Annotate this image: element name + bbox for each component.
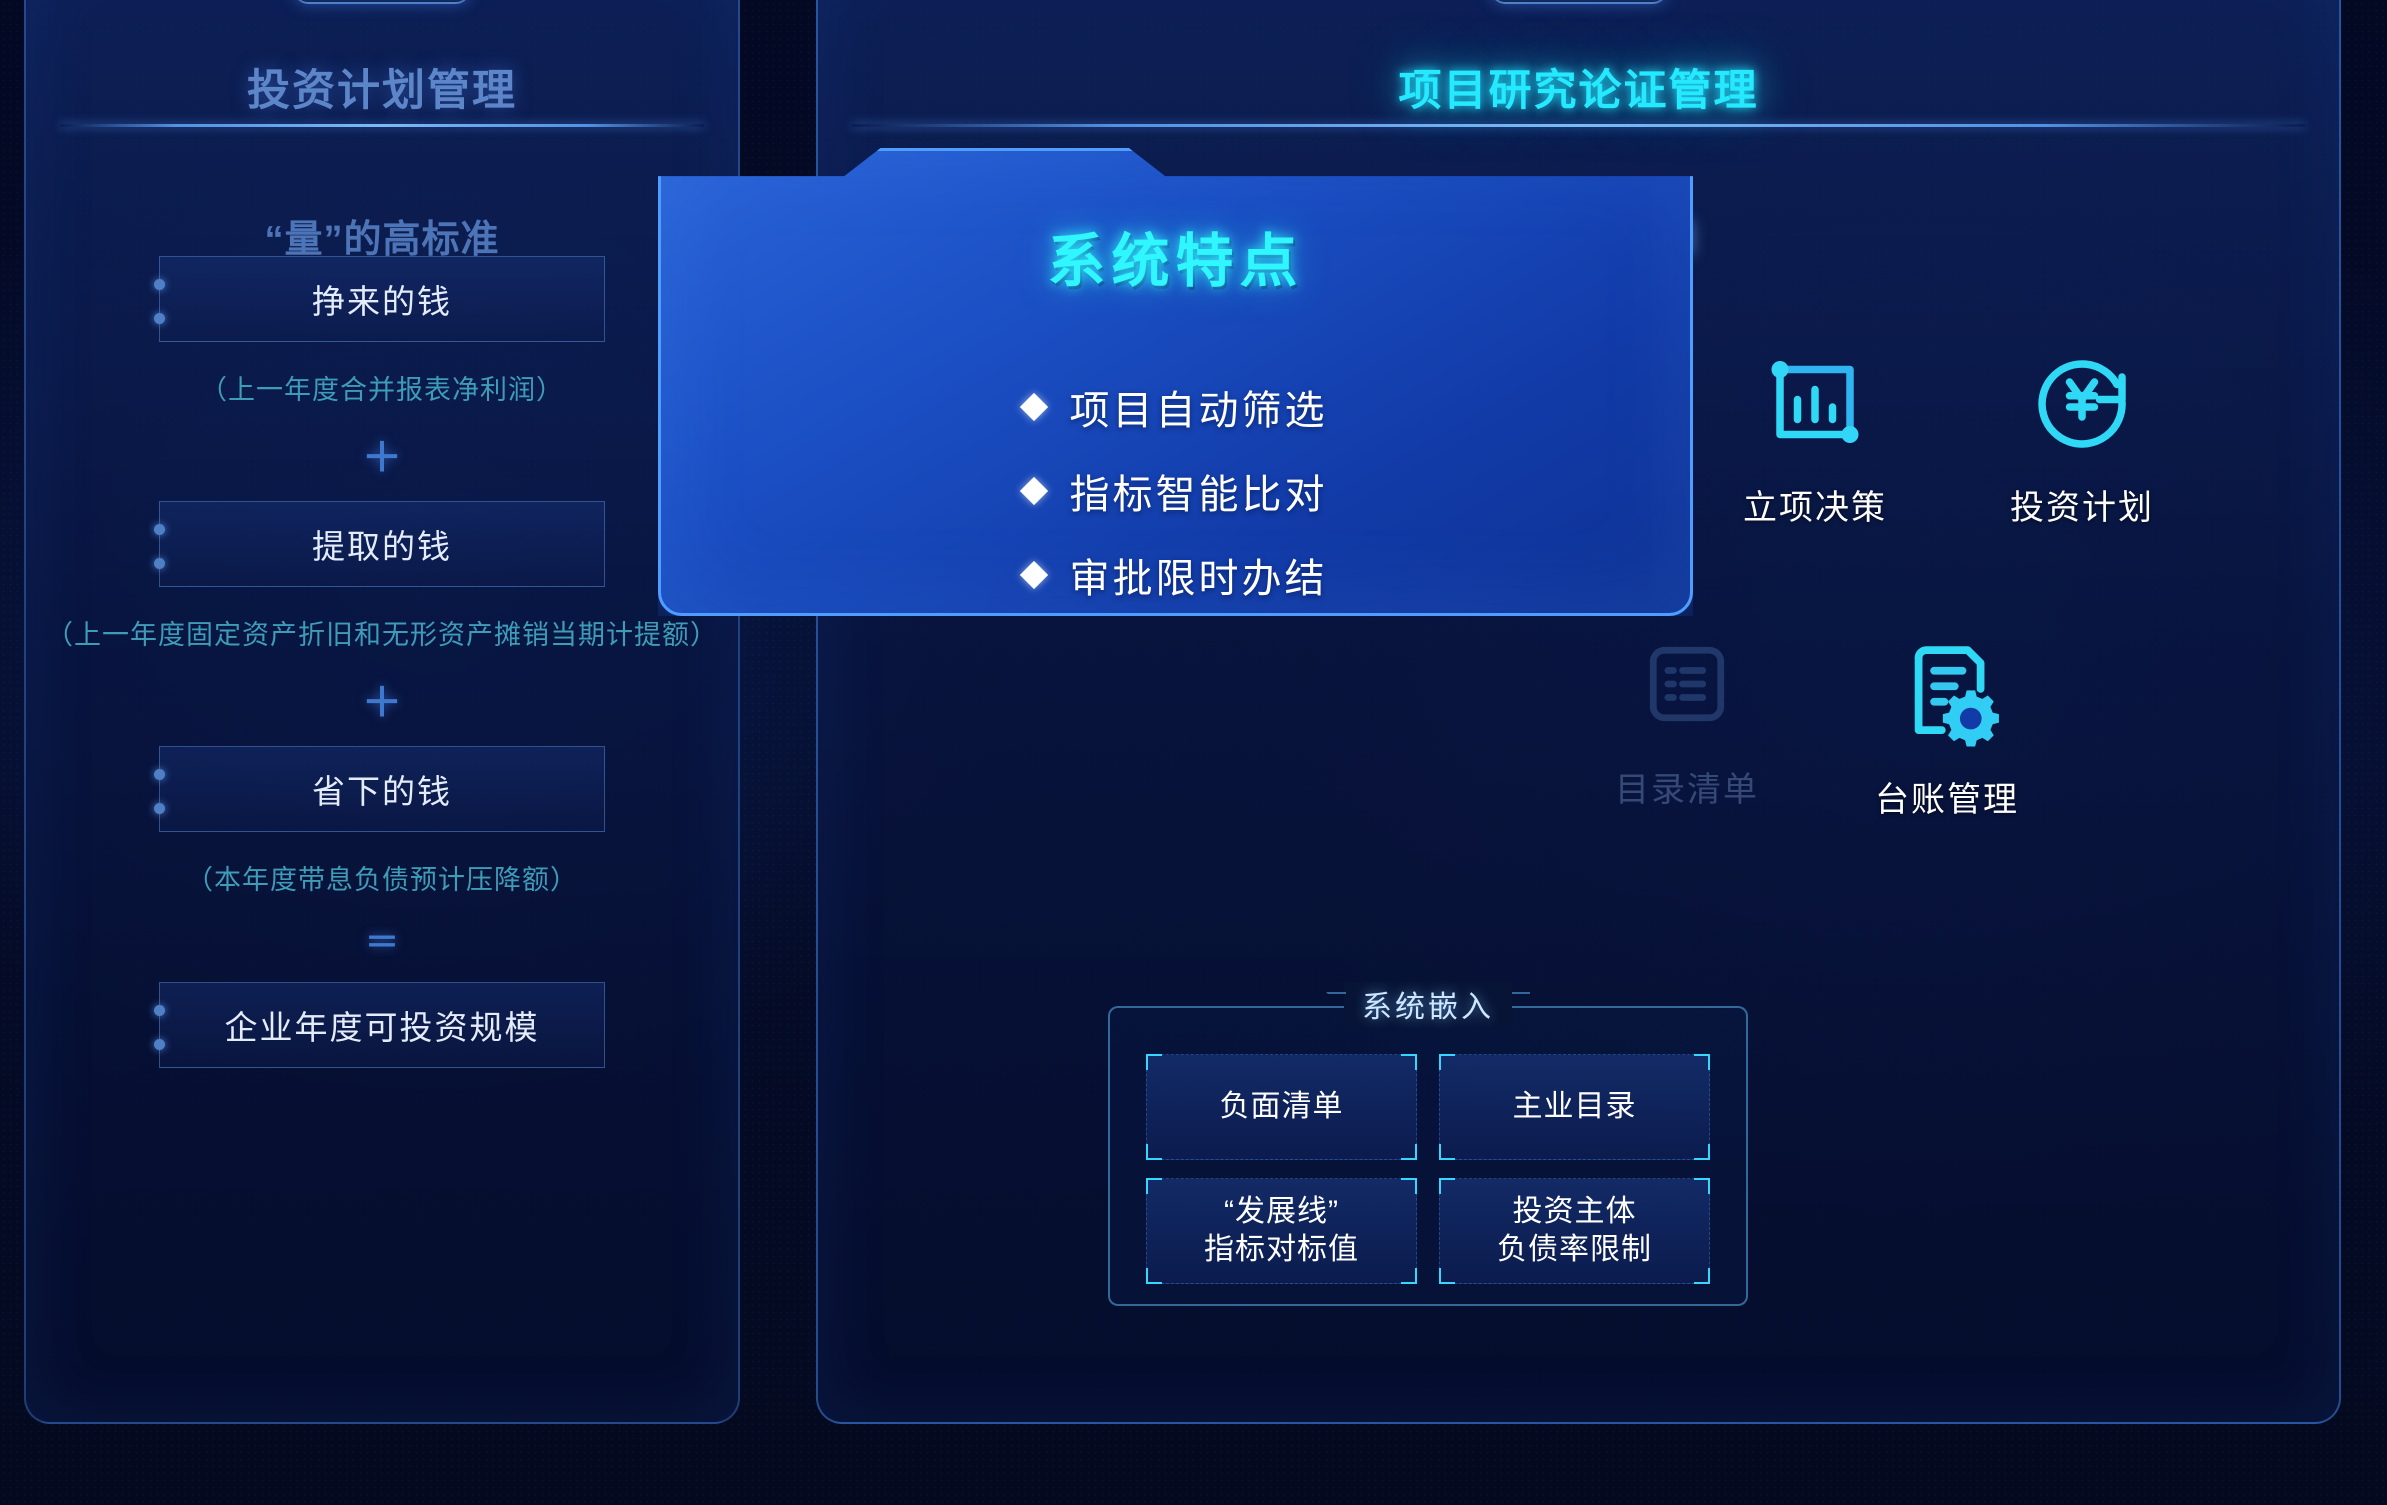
system-features-card[interactable]: 系统特点 项目自动筛选指标智能比对审批限时办结	[658, 148, 1693, 616]
corner-bracket-tl	[1439, 1178, 1455, 1194]
connector-dot	[154, 279, 165, 290]
system-embed-cell-label: 负面清单	[1220, 1088, 1344, 1126]
connector-dot	[154, 803, 165, 814]
right-panel-divider	[852, 124, 2305, 127]
icon-label: 目录清单	[1572, 762, 1802, 811]
feature-bullet-list: 项目自动筛选指标智能比对审批限时办结	[1024, 378, 1328, 630]
corner-bracket-tl	[1439, 1054, 1455, 1070]
formula-box: 提取的钱	[159, 501, 605, 587]
corner-bracket-br	[1694, 1268, 1710, 1284]
diamond-bullet-icon	[1019, 477, 1047, 505]
system-embed-group: 系统嵌入 负面清单主业目录“发展线”指标对标值投资主体负债率限制	[1108, 1006, 1748, 1306]
feature-bullet-item: 指标智能比对	[1024, 462, 1328, 520]
corner-bracket-tl	[1146, 1178, 1162, 1194]
feature-bullet-item: 审批限时办结	[1024, 546, 1328, 604]
corner-bracket-bl	[1146, 1268, 1162, 1284]
formula-operator: ＋	[26, 425, 738, 483]
icon-label: 投资计划	[1967, 480, 2197, 529]
connector-dot	[154, 1039, 165, 1050]
yen-refresh-icon	[1967, 338, 2197, 466]
diamond-bullet-icon	[1019, 393, 1047, 421]
feature-bullet-label: 指标智能比对	[1070, 462, 1328, 520]
formula-note: （本年度带息负债预计压降额）	[26, 858, 738, 897]
system-embed-cell-label: “发展线”指标对标值	[1204, 1193, 1359, 1270]
corner-bracket-br	[1401, 1144, 1417, 1160]
connector-dot	[154, 769, 165, 780]
left-panel-divider	[60, 124, 704, 127]
feature-card-title: 系统特点	[1047, 214, 1303, 298]
system-embed-cell[interactable]: 主业目录	[1439, 1054, 1710, 1160]
investment-formula-flow: 挣来的钱（上一年度合并报表净利润）＋提取的钱（上一年度固定资产折旧和无形资产摊销…	[26, 256, 738, 1068]
corner-bracket-br	[1401, 1268, 1417, 1284]
formula-box-label: 提取的钱	[312, 520, 452, 568]
icon-cell-catalog-list[interactable]: 目录清单	[1572, 620, 1802, 811]
icon-label: 台账管理	[1832, 772, 2062, 821]
formula-operator: ＋	[26, 670, 738, 728]
system-embed-cell[interactable]: “发展线”指标对标值	[1146, 1178, 1417, 1284]
feature-bullet-label: 审批限时办结	[1070, 546, 1328, 604]
corner-bracket-tr	[1401, 1178, 1417, 1194]
infographic-canvas: 投资计划管理 “量”的高标准 挣来的钱（上一年度合并报表净利润）＋提取的钱（上一…	[0, 0, 2387, 1505]
formula-box-label: 挣来的钱	[312, 275, 452, 323]
formula-note: （上一年度固定资产折旧和无形资产摊销当期计提额）	[26, 613, 738, 652]
connector-dot	[154, 1005, 165, 1016]
corner-bracket-bl	[1146, 1144, 1162, 1160]
formula-box: 挣来的钱	[159, 256, 605, 342]
system-embed-grid: 负面清单主业目录“发展线”指标对标值投资主体负债率限制	[1146, 1054, 1710, 1284]
system-embed-cell-label: 投资主体负债率限制	[1497, 1193, 1652, 1270]
icon-cell-investment-plan[interactable]: 投资计划	[1967, 338, 2197, 529]
formula-box: 企业年度可投资规模	[159, 982, 605, 1068]
list-checklist-icon	[1572, 620, 1802, 748]
diamond-bullet-icon	[1019, 561, 1047, 589]
panel-tab-notch	[1491, 0, 1667, 4]
corner-bracket-bl	[1439, 1268, 1455, 1284]
corner-bracket-bl	[1439, 1144, 1455, 1160]
formula-operator: ＝	[26, 915, 738, 964]
formula-note: （上一年度合并报表净利润）	[26, 368, 738, 407]
system-embed-cell-label: 主业目录	[1513, 1088, 1637, 1126]
document-gear-icon	[1832, 630, 2062, 758]
corner-bracket-tr	[1694, 1178, 1710, 1194]
system-embed-legend: 系统嵌入	[1344, 982, 1512, 1026]
icon-cell-ledger-management[interactable]: 台账管理	[1832, 630, 2062, 821]
right-panel-title: 项目研究论证管理	[818, 56, 2339, 118]
connector-dot	[154, 558, 165, 569]
corner-bracket-tl	[1146, 1054, 1162, 1070]
corner-bracket-tr	[1694, 1054, 1710, 1070]
system-embed-cell[interactable]: 投资主体负债率限制	[1439, 1178, 1710, 1284]
icon-cell-project-decision[interactable]: 立项决策	[1700, 338, 1930, 529]
left-panel-subtitle: “量”的高标准	[26, 208, 738, 263]
feature-bullet-item: 项目自动筛选	[1024, 378, 1328, 436]
panel-investment-plan: 投资计划管理 “量”的高标准 挣来的钱（上一年度合并报表净利润）＋提取的钱（上一…	[24, 0, 740, 1424]
left-panel-title: 投资计划管理	[26, 56, 738, 118]
system-embed-cell[interactable]: 负面清单	[1146, 1054, 1417, 1160]
corner-bracket-br	[1694, 1144, 1710, 1160]
formula-box-label: 企业年度可投资规模	[225, 1001, 540, 1049]
connector-dot	[154, 524, 165, 535]
formula-box: 省下的钱	[159, 746, 605, 832]
corner-bracket-tr	[1401, 1054, 1417, 1070]
feature-bullet-label: 项目自动筛选	[1070, 378, 1328, 436]
panel-tab-notch	[294, 0, 470, 4]
connector-dot	[154, 313, 165, 324]
bar-chart-icon	[1700, 338, 1930, 466]
icon-label: 立项决策	[1700, 480, 1930, 529]
formula-box-label: 省下的钱	[312, 765, 452, 813]
